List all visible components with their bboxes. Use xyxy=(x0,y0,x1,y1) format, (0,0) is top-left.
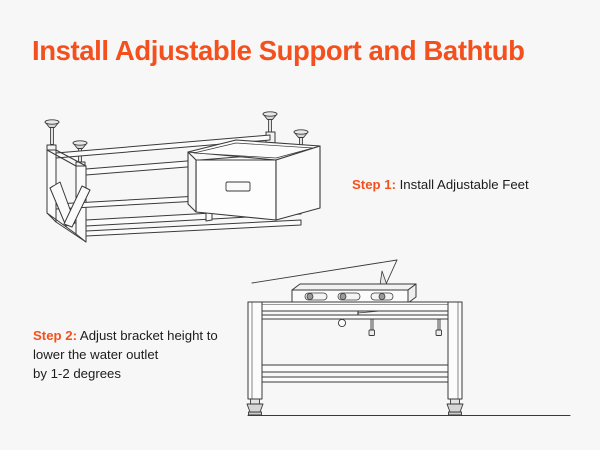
bracket-slot xyxy=(305,293,327,300)
page-title: Install Adjustable Support and Bathtub xyxy=(32,36,592,66)
step-2-label: Step 2: Adjust bracket height to lower t… xyxy=(33,326,263,383)
instruction-card: Install Adjustable Support and Bathtub xyxy=(0,0,600,450)
bracket-slot xyxy=(338,293,360,300)
bracket-slot xyxy=(371,293,393,300)
hanging-pin xyxy=(436,319,442,336)
drain-plate xyxy=(226,182,250,191)
right-leg xyxy=(448,302,462,399)
step-1-text: Install Adjustable Feet xyxy=(400,177,529,192)
leveling-foot xyxy=(247,399,263,415)
upper-illustration xyxy=(20,100,340,260)
step-2-line-3: by 1-2 degrees xyxy=(33,364,263,383)
adjustable-foot-screw xyxy=(45,120,59,145)
step-2-line-2: lower the water outlet xyxy=(33,345,263,364)
step-1-key: Step 1: xyxy=(352,177,396,192)
hanging-pin xyxy=(369,319,375,336)
top-rail xyxy=(248,302,462,311)
leveling-foot xyxy=(447,399,463,415)
step-1-label: Step 1: Install Adjustable Feet xyxy=(352,175,529,194)
bathtub-box xyxy=(188,140,320,220)
step-2-key: Step 2: xyxy=(33,328,77,343)
lower-illustration xyxy=(230,255,580,430)
outlet-hole xyxy=(338,319,345,326)
secondary-rail xyxy=(248,315,462,319)
lower-rail xyxy=(262,365,448,382)
step-2-line-1: Adjust bracket height to xyxy=(80,328,218,343)
